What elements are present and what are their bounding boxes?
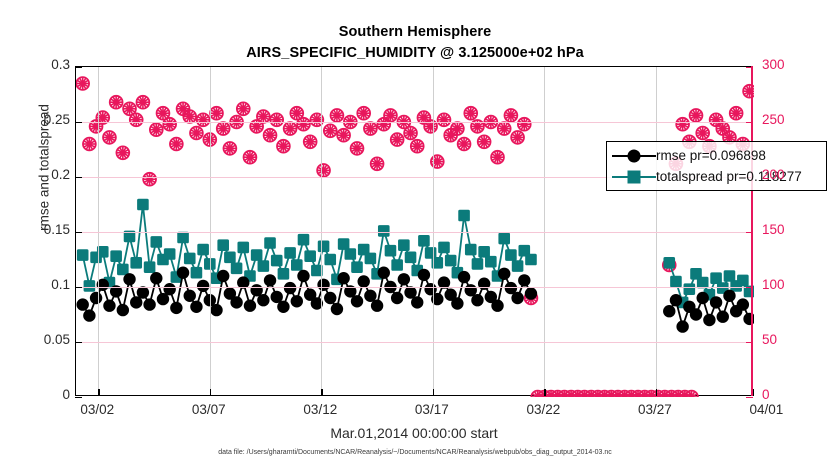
series-rmse [76,267,754,333]
grid-line-vertical [544,67,545,395]
grid-line-vertical [656,67,657,395]
filled-circle-marker-icon [612,146,656,166]
x-axis-tick [321,389,322,396]
plot-area: rmse pr=0.096898 totalspread pr=0.118277 [75,66,753,396]
y-axis-left-tick [75,122,82,123]
y-axis-left-ticklabel: 0.05 [0,332,70,347]
legend-box[interactable]: rmse pr=0.096898 totalspread pr=0.118277 [606,141,827,191]
y-axis-right-ticklabel: 200 [762,167,830,182]
series-obs-zero-gap [531,391,698,397]
y-axis-right-ticklabel: 100 [762,277,830,292]
x-axis-tick [210,389,211,396]
y-axis-right-tick [746,67,753,68]
y-axis-left-tick [75,177,82,178]
y-axis-right-tick [746,287,753,288]
x-axis-tick [98,389,99,396]
y-axis-left-tick [75,397,82,398]
y-axis-left-tick [75,67,82,68]
y-axis-left-tick [75,232,82,233]
figure-canvas: Southern Hemisphere AIRS_SPECIFIC_HUMIDI… [0,0,830,470]
x-axis-ticklabel: 03/07 [164,402,254,417]
y-axis-right-ticklabel: 250 [762,112,830,127]
x-axis-tick [753,389,754,396]
x-axis-label: Mar.01,2014 00:00:00 start [75,425,753,441]
x-axis-tick [433,389,434,396]
grid-line-horizontal [76,232,752,233]
grid-line-vertical [98,67,99,395]
x-axis-ticklabel: 03/22 [498,402,588,417]
y-axis-left-ticklabel: 0.15 [0,222,70,237]
grid-line-vertical [321,67,322,395]
title-line-2: AIRS_SPECIFIC_HUMIDITY @ 3.125000e+02 hP… [0,43,830,64]
chart-title: Southern Hemisphere AIRS_SPECIFIC_HUMIDI… [0,22,830,64]
y-axis-right-ticklabel: 50 [762,332,830,347]
filled-square-marker-icon [612,167,656,187]
x-axis-ticklabel: 03/17 [387,402,477,417]
grid-line-horizontal [76,342,752,343]
y-axis-right-tick [746,397,753,398]
y-axis-right-ticklabel: 150 [762,222,830,237]
y-axis-left-ticklabel: 0.2 [0,167,70,182]
x-axis-ticklabel: 03/12 [275,402,365,417]
y-axis-right-tick [746,342,753,343]
y-axis-left-tick [75,342,82,343]
x-axis-ticklabel: 04/01 [721,402,811,417]
legend-item-rmse[interactable]: rmse pr=0.096898 [612,145,821,166]
y-axis-right-tick [746,122,753,123]
right-axis-spine [751,66,753,396]
grid-line-vertical [210,67,211,395]
y-axis-right-tick [746,232,753,233]
y-axis-left-ticklabel: 0.1 [0,277,70,292]
grid-line-horizontal [76,122,752,123]
legend-label-rmse: rmse pr=0.096898 [656,148,766,163]
y-axis-left-ticklabel: 0.3 [0,57,70,72]
y-axis-left-ticklabel: 0 [0,387,70,402]
x-axis-ticklabel: 03/02 [52,402,142,417]
y-axis-right-ticklabel: 300 [762,57,830,72]
x-axis-tick [544,389,545,396]
data-file-footer: data file: /Users/gharamti/Documents/NCA… [0,449,830,456]
grid-line-horizontal [76,287,752,288]
title-line-1: Southern Hemisphere [0,22,830,43]
grid-line-vertical [433,67,434,395]
x-axis-tick [656,389,657,396]
x-axis-ticklabel: 03/27 [610,402,700,417]
y-axis-left-tick [75,287,82,288]
y-axis-right-ticklabel: 0 [762,387,830,402]
y-axis-left-ticklabel: 0.25 [0,112,70,127]
